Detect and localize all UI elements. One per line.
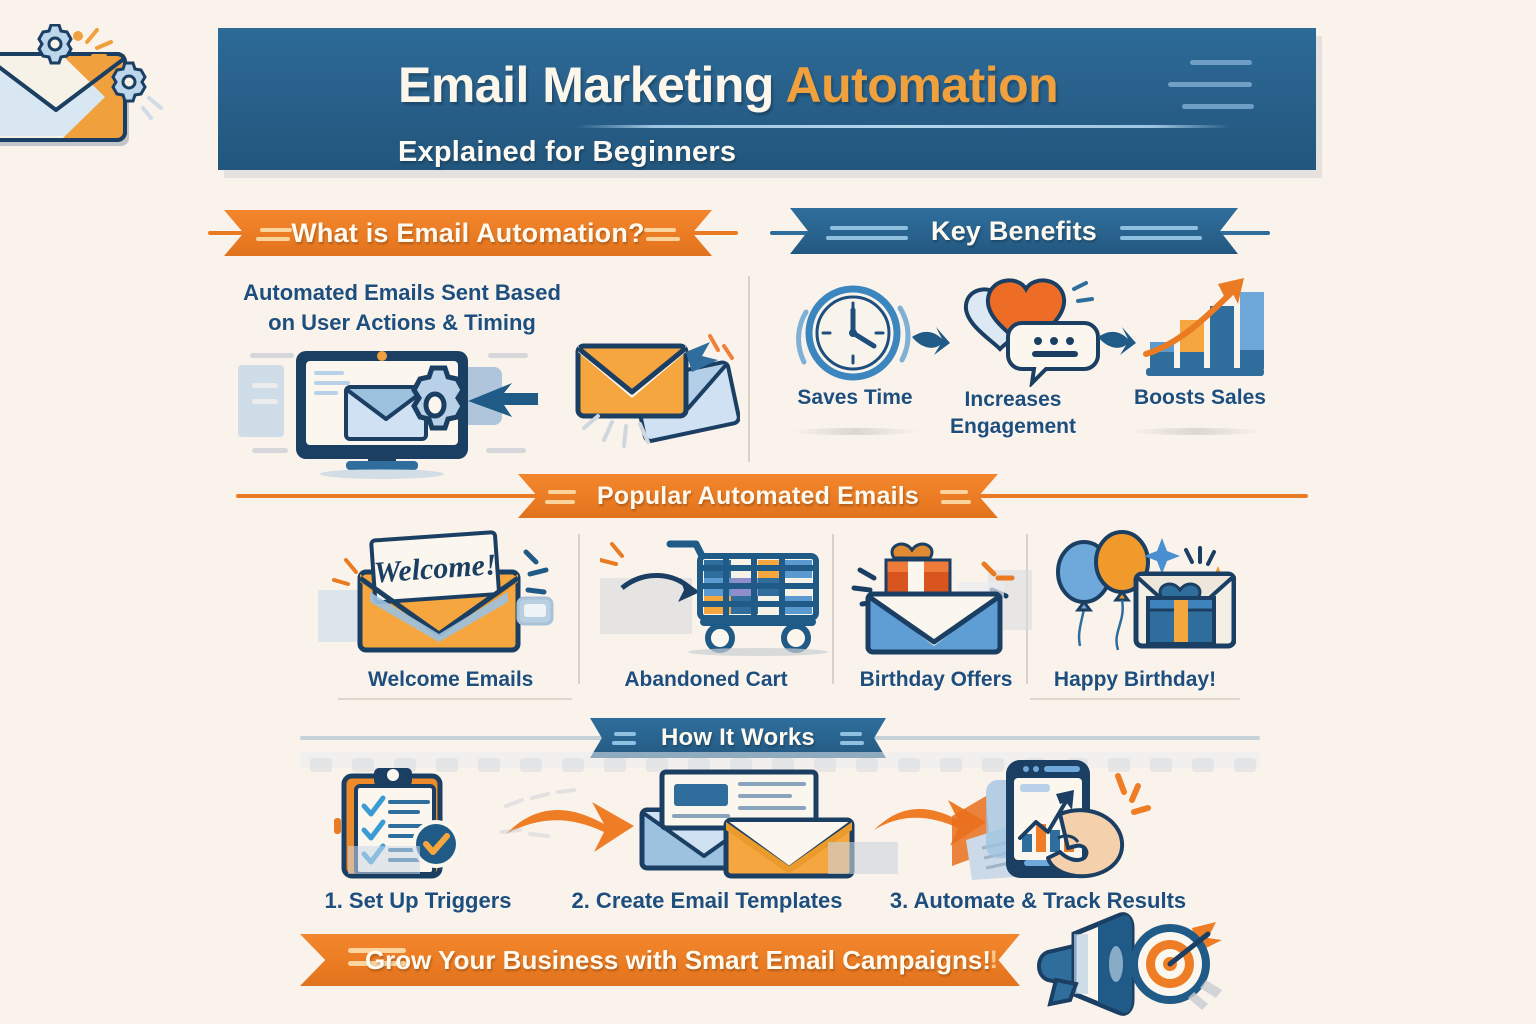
what-is-lead-line2: on User Actions & Timing	[232, 308, 572, 338]
popular-label-3: Happy Birthday!	[1050, 668, 1220, 692]
section-ribbon-popular: Popular Automated Emails	[518, 474, 998, 518]
page-title-main: Email Marketing	[398, 57, 785, 113]
cta-label: Grow Your Business with Smart Email Camp…	[300, 934, 1020, 986]
flying-envelope-icon	[560, 330, 740, 460]
decor-shadow	[790, 428, 920, 435]
header-banner: Email Marketing Automation Explained for…	[218, 28, 1316, 170]
decor-line	[250, 353, 294, 358]
step-label-0: 1. Set Up Triggers	[318, 888, 518, 914]
decor-dashes	[498, 780, 618, 840]
section-title-what-is: What is Email Automation?	[291, 218, 645, 249]
what-is-lead-text: Automated Emails Sent Based on User Acti…	[232, 278, 572, 338]
phone-analytics-icon	[952, 756, 1192, 882]
what-is-lead-line1: Automated Emails Sent Based	[232, 278, 572, 308]
popular-label-2: Birthday Offers	[856, 668, 1016, 692]
popular-label-0: Welcome Emails	[368, 668, 528, 692]
section-title-how-it-works: How It Works	[661, 724, 815, 752]
cta-exclaim: !	[990, 946, 998, 975]
decor-line	[252, 448, 288, 453]
benefit-label-2: Boosts Sales	[1120, 386, 1280, 410]
popular-underline	[1030, 698, 1240, 700]
decor-line	[252, 383, 278, 388]
clock-icon	[796, 278, 914, 388]
email-template-icon	[636, 766, 856, 880]
welcome-envelope-icon: Welcome!	[330, 530, 560, 658]
arrow-right-icon	[910, 285, 950, 375]
popular-underline	[338, 698, 572, 700]
popular-divider	[578, 534, 580, 684]
cta-banner[interactable]: Grow Your Business with Smart Email Camp…	[300, 934, 1020, 986]
gift-envelope-icon	[846, 534, 1034, 658]
page-title-accent: Automation	[785, 57, 1058, 113]
decor-shadow	[1128, 428, 1264, 435]
decor-line	[252, 399, 278, 404]
section-title-key-benefits: Key Benefits	[931, 216, 1097, 247]
monitor-email-gear-icon	[290, 345, 540, 480]
benefit-label-0: Saves Time	[782, 386, 928, 410]
header-divider	[576, 125, 1231, 128]
infographic-canvas: Email Marketing Automation Explained for…	[0, 0, 1536, 1024]
envelope-gears-icon	[0, 24, 195, 154]
shopping-cart-icon	[600, 534, 828, 656]
balloons-gift-icon	[1040, 528, 1236, 658]
popular-label-1: Abandoned Cart	[620, 668, 792, 692]
step-label-1: 2. Create Email Templates	[562, 888, 852, 914]
column-divider	[748, 276, 750, 462]
benefit-label-1: Increases Engagement	[938, 386, 1088, 440]
header-dashes-decor	[1148, 56, 1268, 118]
section-ribbon-key-benefits: Key Benefits	[790, 208, 1238, 254]
megaphone-target-icon	[1030, 908, 1240, 1016]
section-title-popular: Popular Automated Emails	[597, 482, 919, 511]
hearts-chat-icon	[952, 275, 1102, 387]
section-ribbon-what-is: What is Email Automation?	[224, 210, 712, 256]
bar-chart-growth-icon	[1140, 272, 1270, 387]
decor-block	[348, 846, 420, 874]
arrow-right-icon	[1096, 285, 1136, 375]
page-subtitle: Explained for Beginners	[398, 132, 1298, 172]
popular-divider	[832, 534, 834, 684]
